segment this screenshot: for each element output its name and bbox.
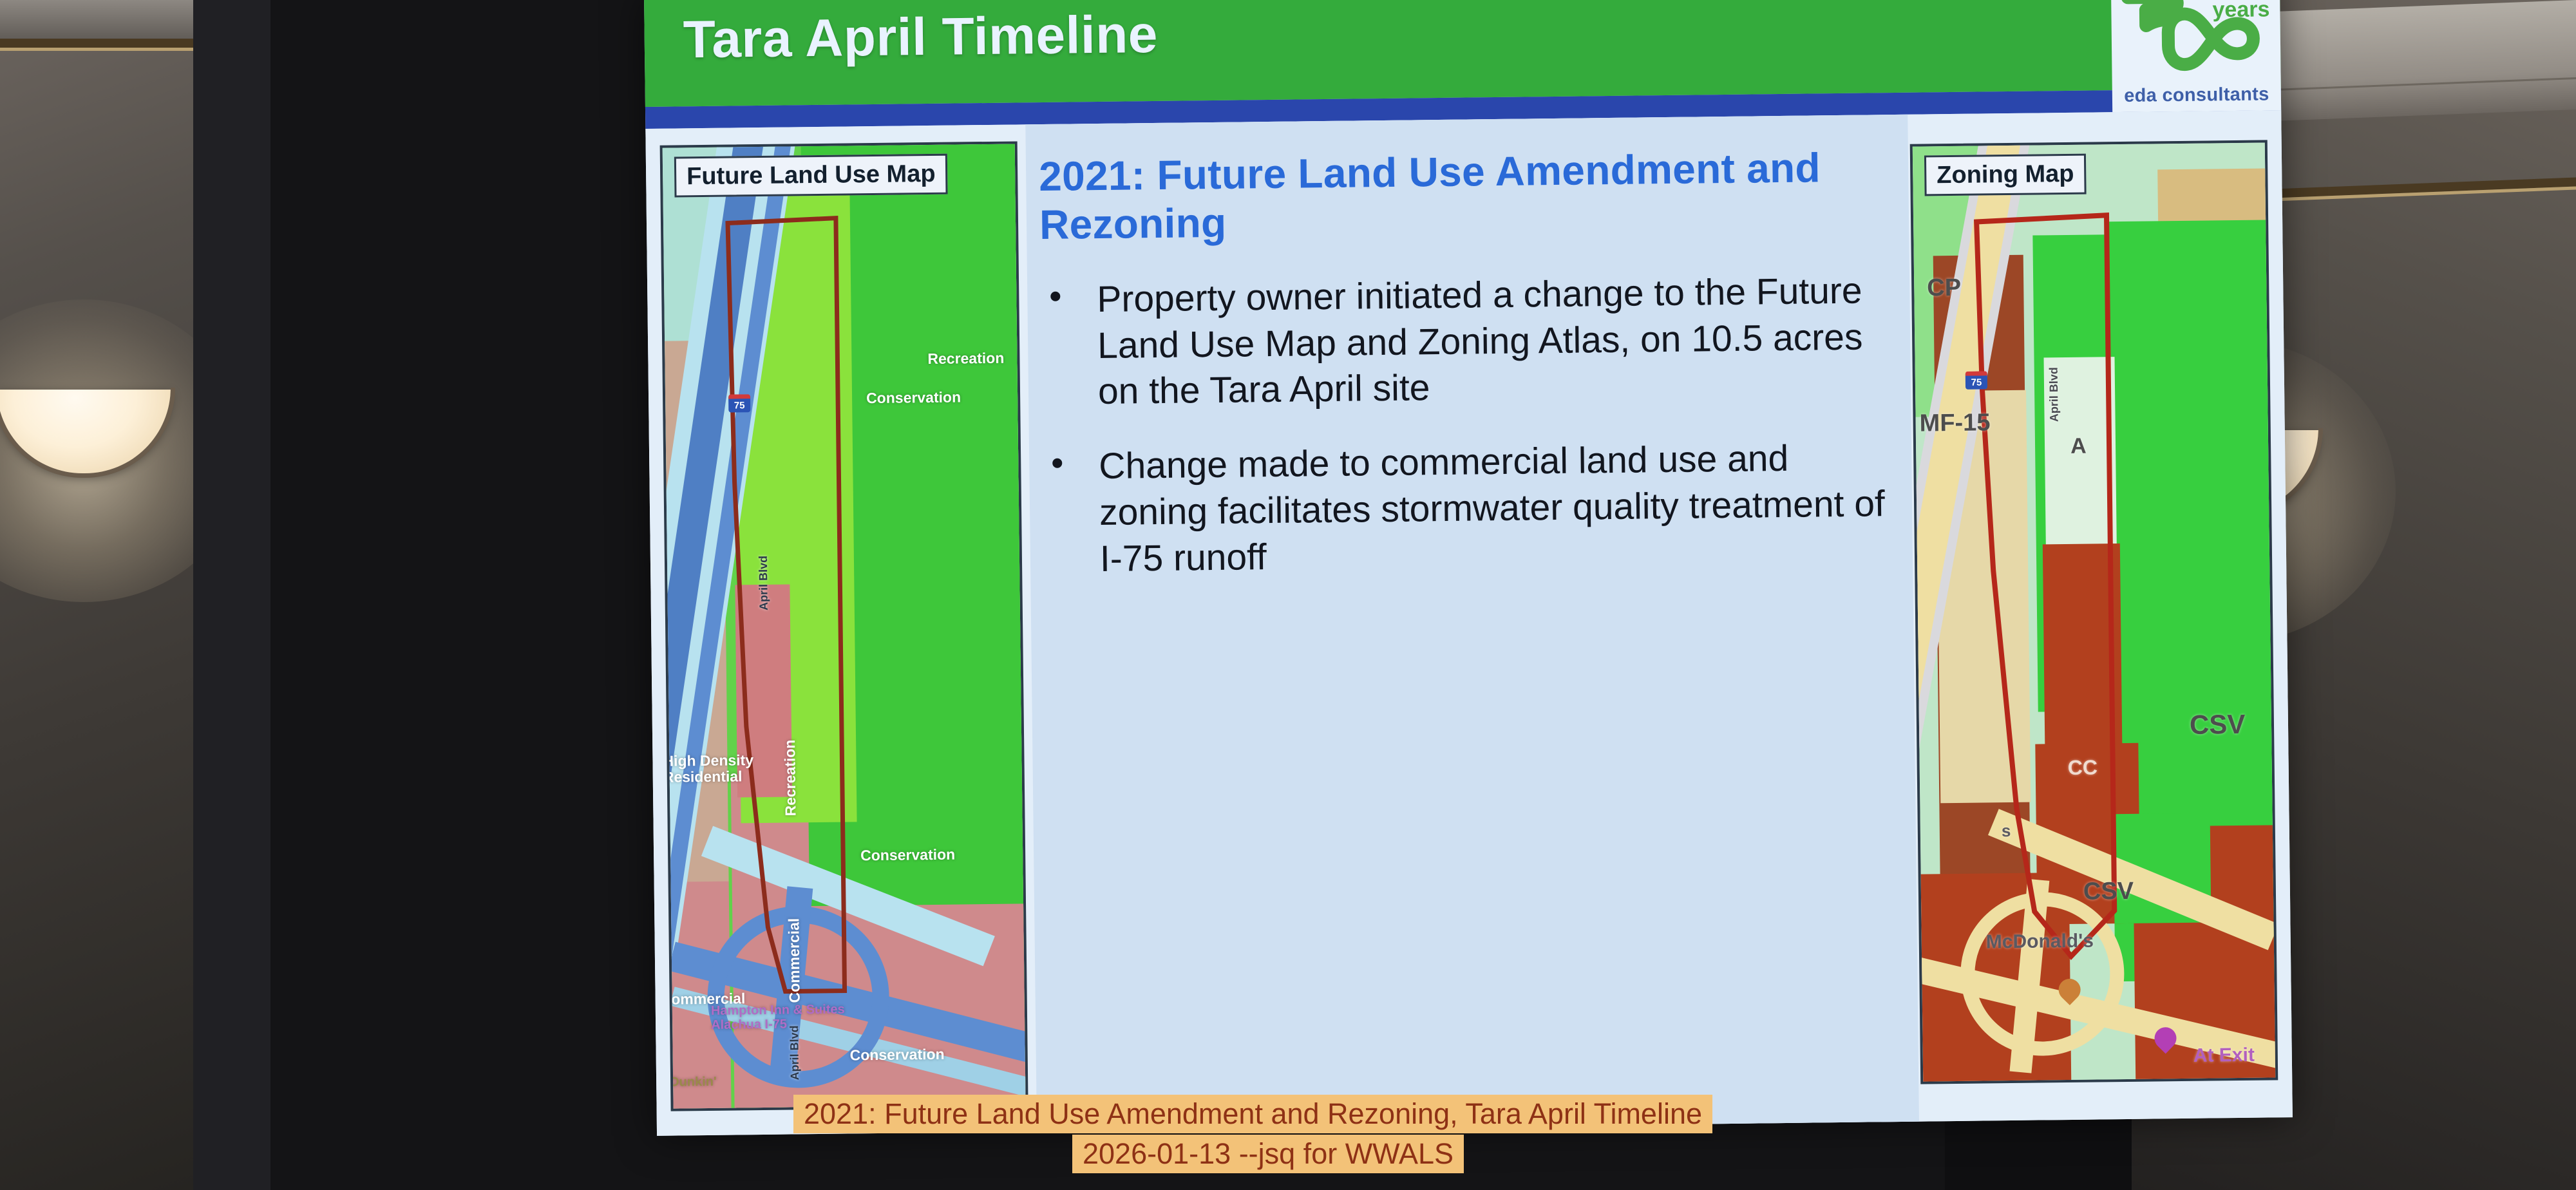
zone-label-cc: CC (2068, 756, 2098, 779)
logo-years-label: years (2212, 0, 2269, 23)
bullet-dot-icon (1052, 458, 1062, 468)
page-title: Tara April Timeline (683, 5, 1158, 70)
interstate-75-shield: 75 (728, 394, 750, 412)
zone-label-csv-2: CSV (2083, 878, 2134, 906)
poi-label-dunkin: Dunkin' (670, 1075, 717, 1090)
content-panel: 2021: Future Land Use Amendment and Rezo… (1039, 143, 1894, 612)
map-label-conservation-2: Conservation (860, 847, 955, 864)
poi-label-hampton-inn: Hampton Inn & Suites Alachua I-75 (711, 1003, 846, 1032)
future-land-use-map: 75 Recreation Conservation High Density … (660, 141, 1028, 1111)
road-label-april-blvd-zoning: April Blvd (2048, 367, 2061, 422)
zone-label-cp: CP (1927, 275, 1961, 302)
eda-consultants-logo: years eda consultants (2111, 0, 2281, 112)
logo-company-name: eda consultants (2112, 84, 2281, 107)
map-label-recreation: Recreation (927, 350, 1004, 368)
bullet-dot-icon (1050, 291, 1060, 301)
projector-screen-frame: Tara April Timeline years eda consultant… (193, 0, 2132, 1190)
conference-room: Tara April Timeline years eda consultant… (0, 0, 2576, 1190)
map-caption-left: Future Land Use Map (674, 154, 948, 198)
left-wall-trim (0, 39, 193, 48)
presentation-slide: Tara April Timeline years eda consultant… (644, 0, 2293, 1136)
parcel-boundary-zoning (1913, 142, 2278, 1084)
poi-label-at-exit: At Exit (2193, 1044, 2255, 1066)
map-label-high-density-residential: High Density Residential (663, 752, 773, 786)
map-caption-right: Zoning Map (1924, 154, 2087, 196)
bullet-text-2: Change made to commercial land use and z… (1099, 438, 1885, 580)
wall-sconce-left (0, 390, 171, 475)
road-label-april-blvd: April Blvd (757, 556, 771, 610)
poi-label-mcdonalds-zoning: McDonald's (1986, 930, 2094, 953)
bullet-item-2: Change made to commercial land use and z… (1042, 435, 1893, 583)
zone-label-a: A (2070, 435, 2087, 459)
parcel-boundary (663, 144, 1028, 1111)
map-label-recreation-2: Recreation (782, 739, 799, 816)
caption-line-2: 2026-01-13 --jsq for WWALS (1072, 1135, 1464, 1173)
poi-label-s: s (2002, 822, 2011, 840)
bullet-list: Property owner initiated a change to the… (1040, 268, 1893, 583)
left-ceiling (0, 0, 193, 39)
map-label-conservation-3: Conservation (850, 1046, 945, 1064)
map-label-conservation: Conservation (866, 389, 961, 406)
bullet-text-1: Property owner initiated a change to the… (1097, 270, 1863, 412)
road-label-april-blvd-2: April Blvd (788, 1025, 802, 1080)
interstate-75-shield-zoning: 75 (1965, 371, 1987, 389)
zone-label-csv: CSV (2190, 710, 2246, 740)
slide-heading: 2021: Future Land Use Amendment and Rezo… (1039, 143, 1890, 249)
map-label-commercial: Commercial (786, 918, 803, 1003)
caption-line-1: 2021: Future Land Use Amendment and Rezo… (793, 1095, 1712, 1133)
zone-label-mf15: MF-15 (1919, 410, 1990, 437)
zoning-map: 75 CP MF-15 A CC CSV CSV April Blvd McDo… (1910, 140, 2278, 1084)
left-wall-trim-accent (0, 48, 193, 51)
bullet-item-1: Property owner initiated a change to the… (1040, 268, 1891, 416)
